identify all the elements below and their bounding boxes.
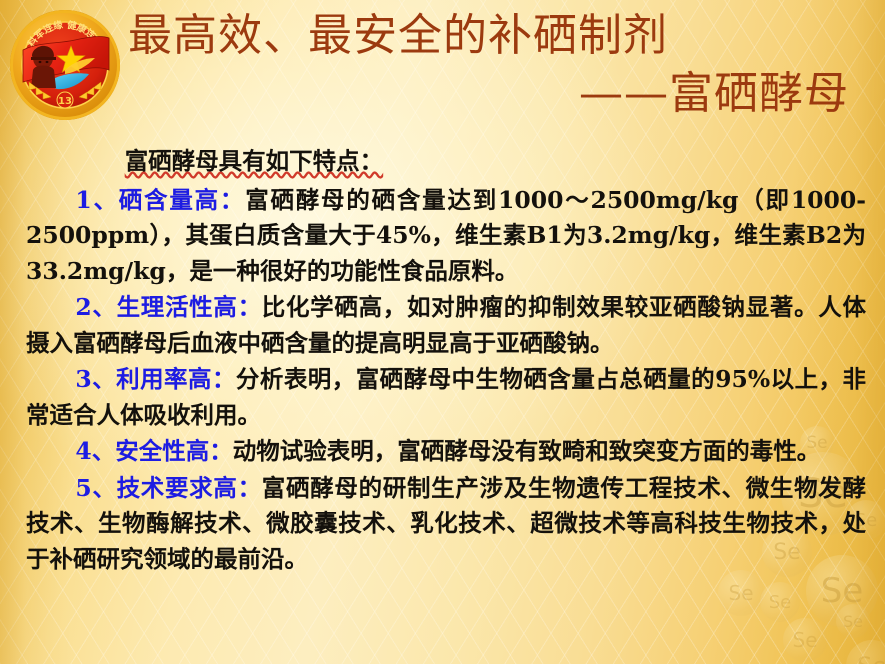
se-watermark-bubble: Se <box>836 604 870 638</box>
page-title-line-2: ——富硒酵母 <box>128 72 873 116</box>
se-watermark-bubble: Se <box>760 582 800 622</box>
feature-paragraph-2: 2、生理活性高：比化学硒高，如对肿瘤的抑制效果较亚硒酸钠显著。人体摄入富硒酵母后… <box>26 290 866 361</box>
feature-paragraph-3: 3、利用率高：分析表明，富硒酵母中生物硒含量占总硒量的95%以上，非常适合人体吸… <box>26 362 866 433</box>
slide-body: 富硒酵母具有如下特点： 1、硒含量高：富硒酵母的硒含量达到1000～2500mg… <box>26 144 866 578</box>
feature-lead-4: 4、安全性高： <box>75 437 232 465</box>
health-emblem-logo: 科军连缘 健康连锁 <box>9 8 121 122</box>
svg-text:13: 13 <box>58 96 72 107</box>
feature-lead-2: 2、生理活性高： <box>75 293 261 321</box>
feature-paragraph-4: 4、安全性高：动物试验表明，富硒酵母没有致畸和致突变方面的毒性。 <box>26 434 866 470</box>
feature-lead-5: 5、技术要求高： <box>75 474 261 502</box>
intro-text-misspelled: 富硒酵母具有如下特点： <box>125 147 384 175</box>
feature-text-4: 动物试验表明，富硒酵母没有致畸和致突变方面的毒性。 <box>233 437 821 465</box>
emblem-bottom-badge: 13 <box>57 92 73 108</box>
feature-paragraph-1: 1、硒含量高：富硒酵母的硒含量达到1000～2500mg/kg（即1000-25… <box>26 183 866 290</box>
slide-title: 最高效、最安全的补硒制剂 ——富硒酵母 <box>128 14 873 116</box>
body-intro-paragraph: 富硒酵母具有如下特点： <box>26 144 866 180</box>
feature-lead-3: 3、利用率高： <box>75 365 236 393</box>
se-watermark-bubble: Se <box>846 640 885 664</box>
page-title-line-1: 最高效、最安全的补硒制剂 <box>128 14 873 58</box>
se-watermark-bubble: Se <box>783 618 827 662</box>
feature-lead-1: 1、硒含量高： <box>75 186 245 214</box>
feature-paragraph-5: 5、技术要求高：富硒酵母的研制生产涉及生物遗传工程技术、微生物发酵技术、生物酶解… <box>26 471 866 578</box>
slide-canvas: SeSeSeSeSeSeSeSeSeSe <box>0 0 885 664</box>
